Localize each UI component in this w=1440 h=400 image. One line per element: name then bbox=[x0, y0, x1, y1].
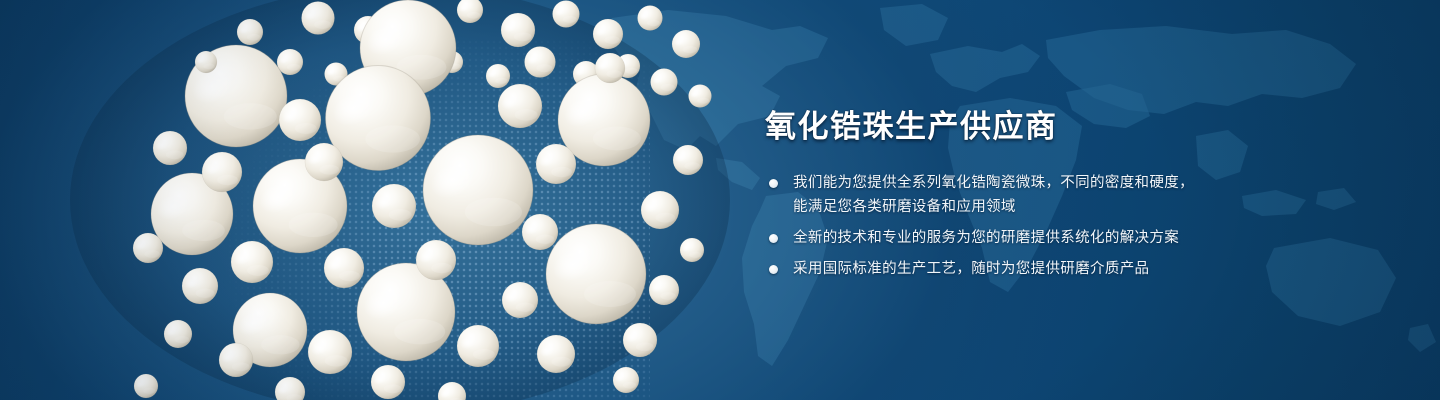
bullet-dot-icon bbox=[769, 179, 778, 188]
feature-text-line-1: 采用国际标准的生产工艺，随时为您提供研磨介质产品 bbox=[793, 257, 1365, 281]
banner-copy: 氧化锆珠生产供应商 我们能为您提供全系列氧化锆陶瓷微珠，不同的密度和硬度， 能满… bbox=[765, 106, 1365, 281]
banner-headline: 氧化锆珠生产供应商 bbox=[765, 106, 1365, 148]
feature-list: 我们能为您提供全系列氧化锆陶瓷微珠，不同的密度和硬度， 能满足您各类研磨设备和应… bbox=[765, 171, 1365, 281]
bullet-dot-icon bbox=[769, 265, 778, 274]
feature-list-item: 采用国际标准的生产工艺，随时为您提供研磨介质产品 bbox=[765, 257, 1365, 281]
hero-banner: 氧化锆珠生产供应商 我们能为您提供全系列氧化锆陶瓷微珠，不同的密度和硬度， 能满… bbox=[0, 0, 1440, 400]
feature-text-line-1: 我们能为您提供全系列氧化锆陶瓷微珠，不同的密度和硬度， bbox=[793, 171, 1365, 195]
feature-list-item: 全新的技术和专业的服务为您的研磨提供系统化的解决方案 bbox=[765, 226, 1365, 250]
feature-text-line-1: 全新的技术和专业的服务为您的研磨提供系统化的解决方案 bbox=[793, 226, 1365, 250]
feature-list-item: 我们能为您提供全系列氧化锆陶瓷微珠，不同的密度和硬度， 能满足您各类研磨设备和应… bbox=[765, 171, 1365, 219]
feature-text-line-2: 能满足您各类研磨设备和应用领域 bbox=[793, 195, 1365, 219]
bullet-dot-icon bbox=[769, 234, 778, 243]
